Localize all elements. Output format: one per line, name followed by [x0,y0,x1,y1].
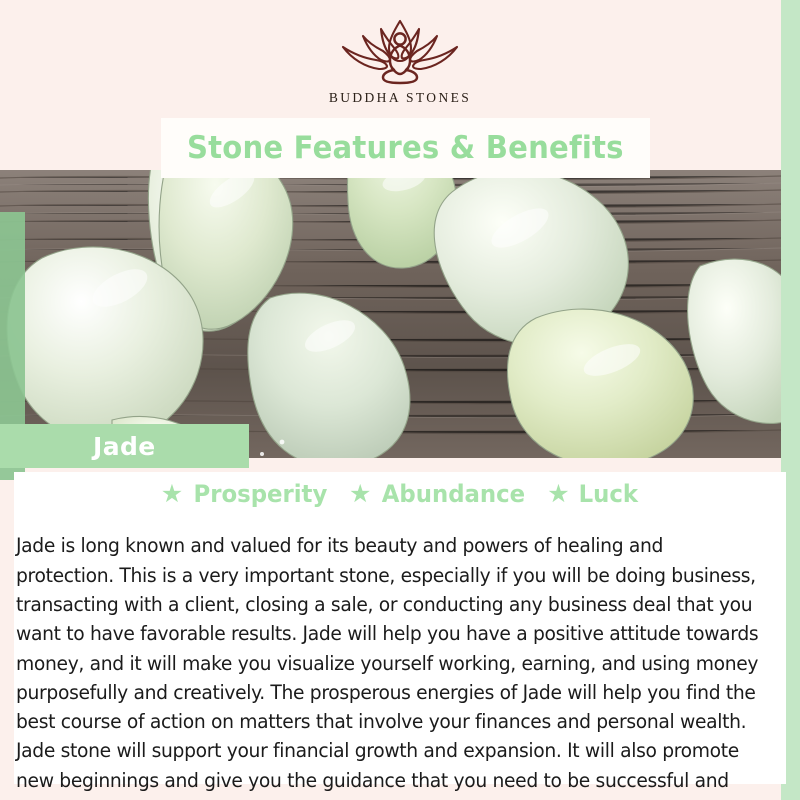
title-banner: Stone Features & Benefits [161,118,650,178]
brand-logo: BUDDHA STONES [0,16,800,106]
stone-description: Jade is long known and valued for its be… [16,531,759,800]
benefit-label: Abundance [382,480,525,508]
benefit-label: Prosperity [194,480,328,508]
brand-wordmark: BUDDHA STONES [0,90,800,106]
benefits-row: ★ Prosperity ★ Abundance ★ Luck [14,476,786,512]
page-title: Stone Features & Benefits [187,130,624,166]
stone-name-banner: Jade [0,424,249,468]
star-icon: ★ [547,482,569,507]
stone-name: Jade [93,432,156,461]
star-icon: ★ [161,482,183,507]
lotus-meditation-icon [325,16,475,88]
benefit-item-prosperity: ★ Prosperity [161,480,331,508]
benefit-item-luck: ★ Luck [547,480,639,508]
benefit-label: Luck [578,480,637,508]
infographic-card: BUDDHA STONES Stone Features & Benefits [0,0,800,800]
star-icon: ★ [349,482,371,507]
stone-photo-illustration [0,170,781,458]
stone-photo [0,170,781,458]
benefit-item-abundance: ★ Abundance [349,480,529,508]
